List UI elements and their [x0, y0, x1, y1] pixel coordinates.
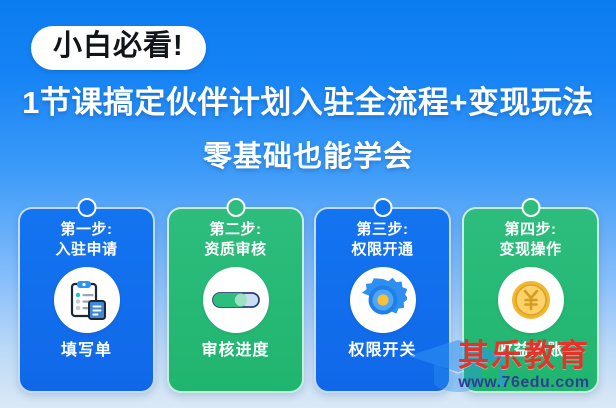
highlight-badge: 小白必看!	[31, 26, 206, 70]
step-name-3: 权限开通	[351, 240, 413, 260]
step-marker-dot-3	[373, 198, 392, 217]
step-foot-label-2: 审核进度	[201, 343, 269, 359]
step-foot-label-4: 收益到账	[496, 343, 564, 359]
step-marker-dot-4	[521, 198, 540, 217]
step-number-1: 第一步:	[61, 221, 113, 240]
step-card-1[interactable]: 第一步: 入驻申请 填写单	[18, 207, 155, 393]
promo-poster: 小白必看! 1节课搞定伙伴计划入驻全流程+变现玩法 零基础也能学会 第一步: 入…	[0, 0, 616, 408]
step-card-list: 第一步: 入驻申请 填写单	[0, 201, 616, 396]
step-number-3: 第三步:	[357, 221, 409, 240]
step-card-4[interactable]: 第四步: 变现操作 收益到账	[462, 207, 599, 393]
progress-bar-icon	[203, 267, 269, 333]
step-card-3[interactable]: 第三步: 权限开通 权限开关	[314, 207, 451, 393]
page-title: 1节课搞定伙伴计划入驻全流程+变现玩法	[0, 86, 616, 120]
highlight-badge-label: 小白必看!	[53, 32, 184, 61]
step-foot-label-1: 填写单	[61, 343, 112, 359]
step-marker-dot-1	[77, 198, 96, 217]
clipboard-checklist-icon	[54, 267, 120, 333]
step-card-2[interactable]: 第二步: 资质审核 审核进度	[167, 207, 304, 393]
step-name-2: 资质审核	[204, 240, 266, 260]
step-marker-dot-2	[226, 198, 245, 217]
yen-coin-icon	[498, 267, 564, 333]
gear-settings-icon	[350, 267, 416, 333]
step-number-2: 第二步:	[210, 221, 262, 240]
step-number-4: 第四步:	[505, 221, 557, 240]
step-name-4: 变现操作	[499, 240, 561, 260]
step-foot-label-3: 权限开关	[348, 343, 416, 359]
step-name-1: 入驻申请	[55, 240, 117, 260]
page-subtitle: 零基础也能学会	[0, 142, 616, 174]
